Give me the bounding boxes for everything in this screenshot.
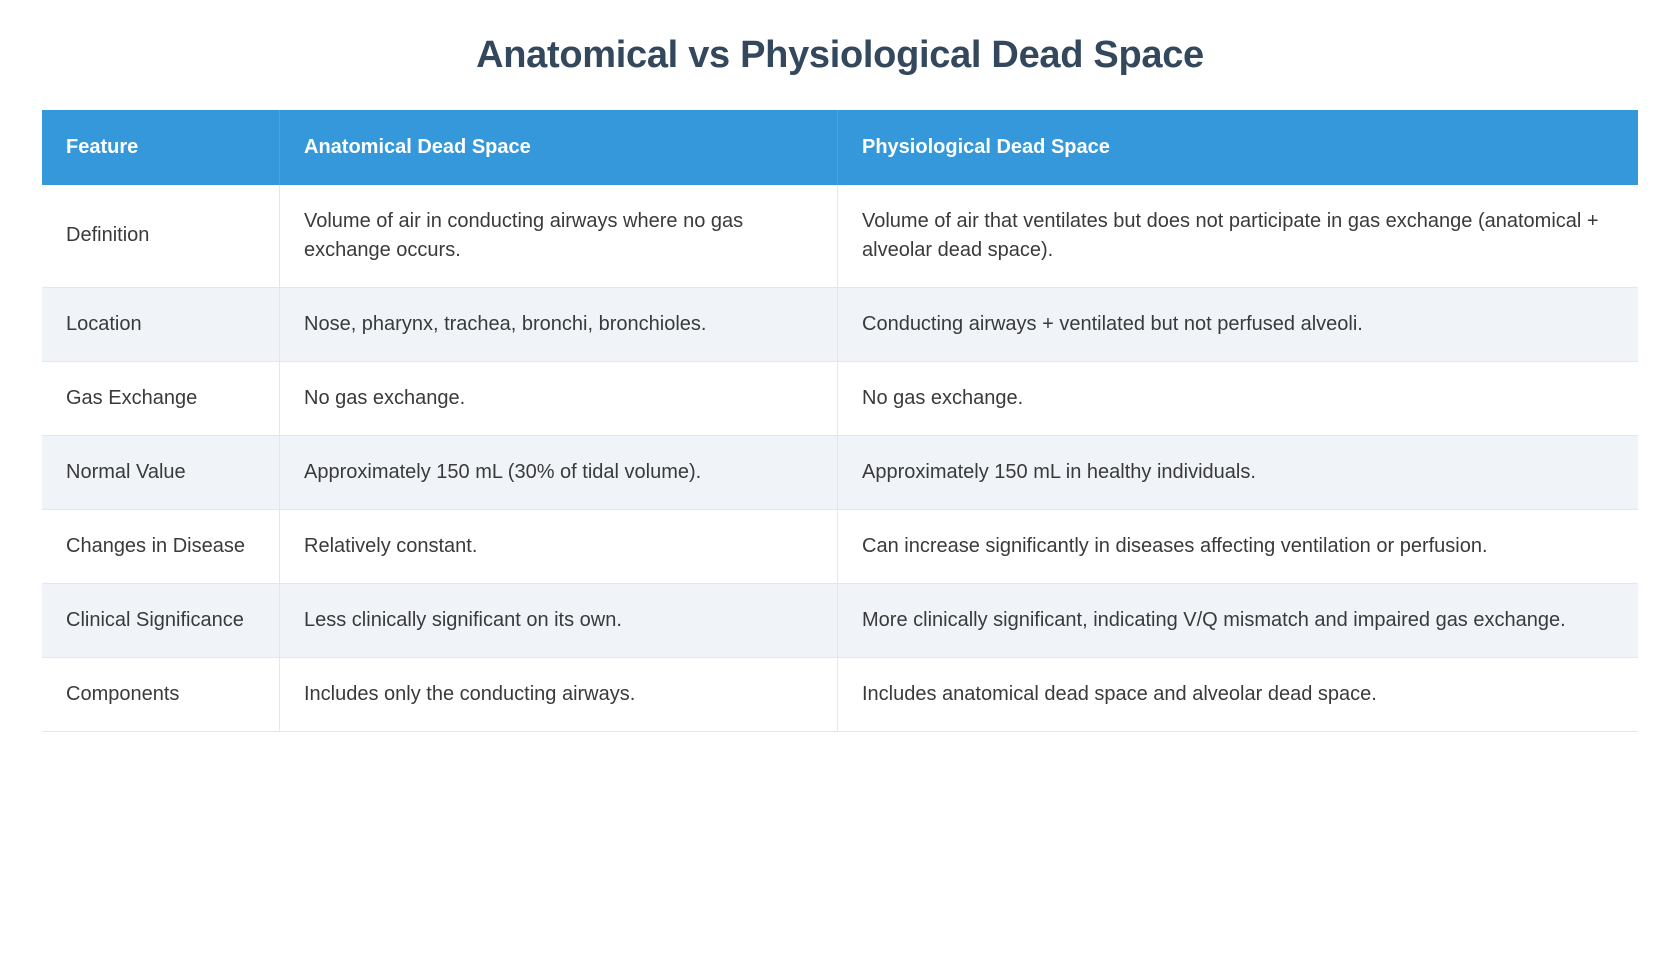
cell-anatomical: Includes only the conducting airways. — [280, 658, 838, 732]
table-row: Components Includes only the conducting … — [42, 658, 1638, 732]
cell-anatomical: No gas exchange. — [280, 362, 838, 436]
cell-anatomical: Less clinically significant on its own. — [280, 584, 838, 658]
comparison-table-container: Feature Anatomical Dead Space Physiologi… — [42, 110, 1638, 732]
cell-feature: Normal Value — [42, 436, 280, 510]
cell-physiological: No gas exchange. — [838, 362, 1638, 436]
cell-physiological: More clinically significant, indicating … — [838, 584, 1638, 658]
table-row: Normal Value Approximately 150 mL (30% o… — [42, 436, 1638, 510]
column-header-anatomical-dead-space: Anatomical Dead Space — [280, 110, 838, 185]
column-header-physiological-dead-space: Physiological Dead Space — [838, 110, 1638, 185]
cell-physiological: Volume of air that ventilates but does n… — [838, 185, 1638, 288]
table-row: Location Nose, pharynx, trachea, bronchi… — [42, 288, 1638, 362]
page-title: Anatomical vs Physiological Dead Space — [0, 0, 1680, 79]
table-row: Gas Exchange No gas exchange. No gas exc… — [42, 362, 1638, 436]
cell-feature: Gas Exchange — [42, 362, 280, 436]
table-header: Feature Anatomical Dead Space Physiologi… — [42, 110, 1638, 185]
table-header-row: Feature Anatomical Dead Space Physiologi… — [42, 110, 1638, 185]
cell-anatomical: Nose, pharynx, trachea, bronchi, bronchi… — [280, 288, 838, 362]
table-row: Changes in Disease Relatively constant. … — [42, 510, 1638, 584]
cell-anatomical: Approximately 150 mL (30% of tidal volum… — [280, 436, 838, 510]
cell-physiological: Approximately 150 mL in healthy individu… — [838, 436, 1638, 510]
comparison-table: Feature Anatomical Dead Space Physiologi… — [42, 110, 1638, 732]
cell-feature: Clinical Significance — [42, 584, 280, 658]
cell-feature: Definition — [42, 185, 280, 288]
page-root: Anatomical vs Physiological Dead Space F… — [0, 0, 1680, 964]
table-row: Clinical Significance Less clinically si… — [42, 584, 1638, 658]
table-body: Definition Volume of air in conducting a… — [42, 185, 1638, 732]
cell-anatomical: Volume of air in conducting airways wher… — [280, 185, 838, 288]
cell-feature: Components — [42, 658, 280, 732]
cell-physiological: Can increase significantly in diseases a… — [838, 510, 1638, 584]
cell-physiological: Conducting airways + ventilated but not … — [838, 288, 1638, 362]
table-row: Definition Volume of air in conducting a… — [42, 185, 1638, 288]
cell-physiological: Includes anatomical dead space and alveo… — [838, 658, 1638, 732]
cell-anatomical: Relatively constant. — [280, 510, 838, 584]
cell-feature: Location — [42, 288, 280, 362]
column-header-feature: Feature — [42, 110, 280, 185]
cell-feature: Changes in Disease — [42, 510, 280, 584]
